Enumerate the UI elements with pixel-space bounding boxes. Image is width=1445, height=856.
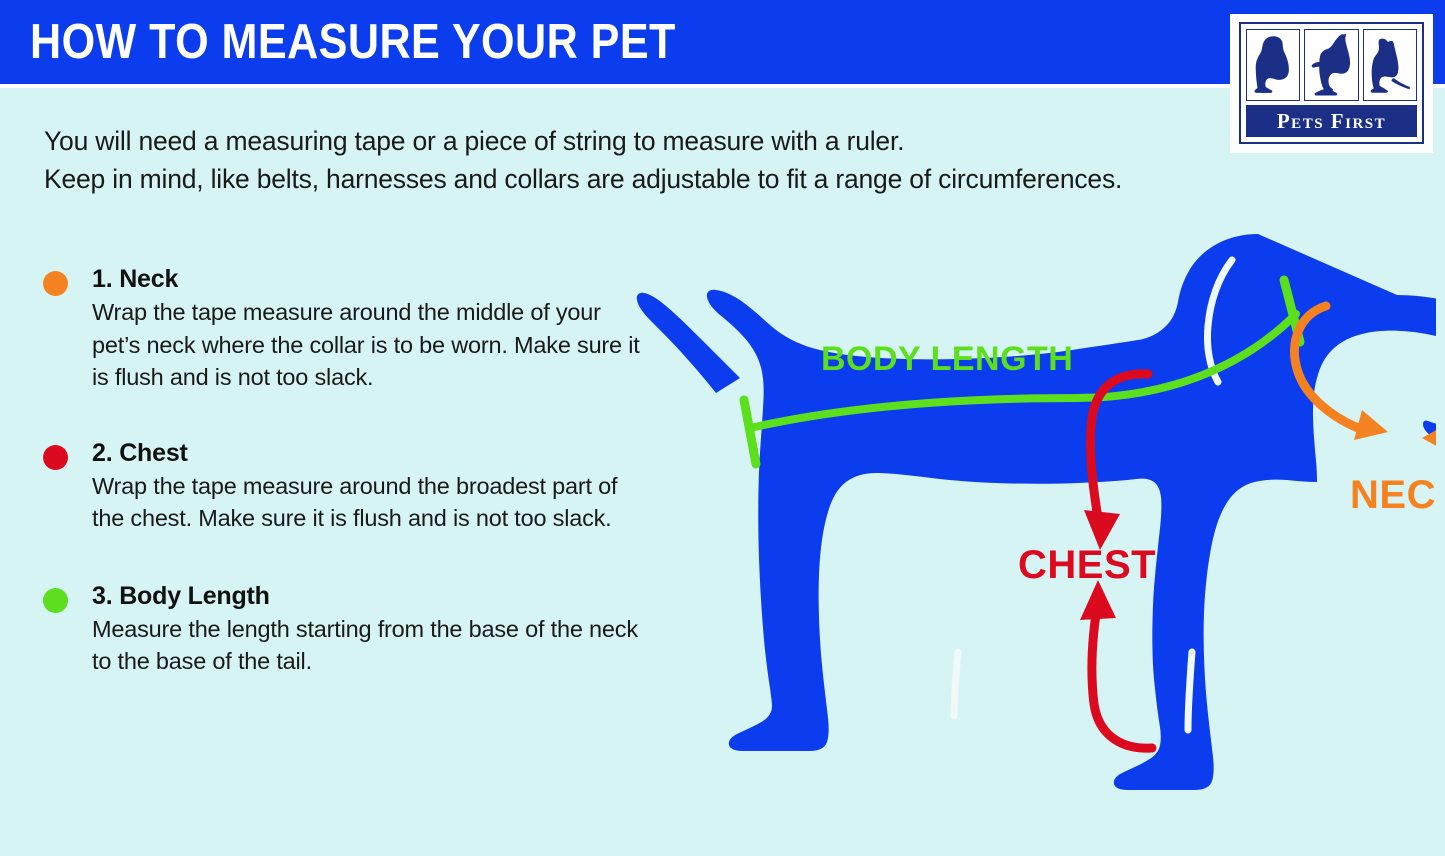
bullet-body-length-icon — [43, 588, 68, 613]
bullet-neck-icon — [43, 271, 68, 296]
howling-dog-silhouette-icon — [1304, 29, 1358, 101]
bullet-chest-icon — [43, 445, 68, 470]
step-item-neck: 1. Neck Wrap the tape measure around the… — [40, 262, 650, 394]
step-body-chest: Wrap the tape measure around the broades… — [92, 470, 650, 535]
dog-measurement-diagram: BODY LENGTH NECK CHEST — [636, 222, 1436, 848]
step-item-body-length: 3. Body Length Measure the length starti… — [40, 579, 650, 678]
intro-line-1: You will need a measuring tape or a piec… — [44, 122, 1194, 160]
step-item-chest: 2. Chest Wrap the tape measure around th… — [40, 436, 650, 535]
alert-dog-silhouette-icon — [1363, 29, 1417, 101]
step-title-neck: 1. Neck — [92, 262, 650, 296]
dog-silhouette — [637, 234, 1436, 790]
step-body-body-length: Measure the length starting from the bas… — [92, 613, 650, 678]
step-body-neck: Wrap the tape measure around the middle … — [92, 296, 650, 394]
logo-wordmark-bar: Pets First — [1246, 105, 1417, 137]
intro-line-2: Keep in mind, like belts, harnesses and … — [44, 160, 1194, 198]
body-length-label: BODY LENGTH — [821, 340, 1073, 378]
step-title-body-length: 3. Body Length — [92, 579, 650, 613]
chest-label: CHEST — [1018, 543, 1156, 587]
intro-text: You will need a measuring tape or a piec… — [44, 122, 1194, 198]
measurement-steps-list: 1. Neck Wrap the tape measure around the… — [40, 262, 650, 710]
infographic-page: HOW TO MEASURE YOUR PET — [0, 0, 1445, 856]
logo-wordmark: Pets First — [1277, 111, 1386, 132]
brand-logo: Pets First — [1230, 14, 1433, 153]
logo-frame: Pets First — [1239, 22, 1424, 144]
sitting-dog-silhouette-icon — [1246, 29, 1300, 101]
logo-silhouette-row — [1246, 29, 1417, 101]
neck-label: NECK — [1350, 473, 1436, 517]
header-underline — [0, 84, 1445, 88]
step-title-chest: 2. Chest — [92, 436, 650, 470]
page-title: HOW TO MEASURE YOUR PET — [30, 16, 676, 68]
header-bar: HOW TO MEASURE YOUR PET — [0, 0, 1445, 84]
